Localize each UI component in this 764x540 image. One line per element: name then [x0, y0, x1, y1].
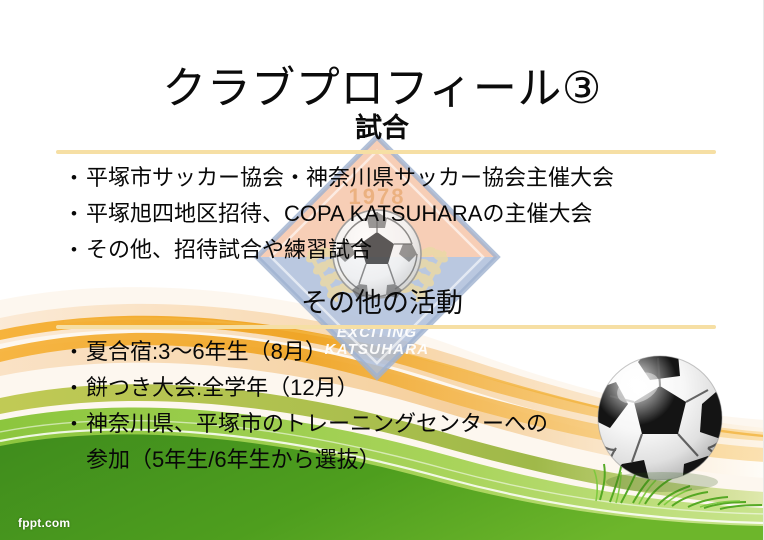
list-item-label: 平塚旭四地区招待、COPA KATSUHARAの主催大会: [86, 196, 614, 232]
list-item-label-line2: 参加（5年生/6年生から選抜）: [86, 442, 548, 478]
bullet-marker-icon: •: [62, 232, 86, 268]
list-item: • 平塚市サッカー協会・神奈川県サッカー協会主催大会: [62, 160, 614, 196]
slide-content: クラブプロフィール③ 試合 • 平塚市サッカー協会・神奈川県サッカー協会主催大会…: [0, 0, 763, 540]
section-divider-matches: [56, 150, 716, 154]
section-heading-other-activities: その他の活動: [0, 290, 764, 317]
list-item: • その他、招待試合や練習試合: [62, 232, 614, 268]
list-item: • 餅つき大会:全学年（12月）: [62, 370, 548, 406]
bullet-marker-icon: •: [62, 160, 86, 196]
list-item-label: 夏合宿:3～6年生（8月）: [86, 334, 548, 370]
bullet-marker-icon: •: [62, 370, 86, 406]
list-item-label: 平塚市サッカー協会・神奈川県サッカー協会主催大会: [86, 160, 614, 196]
list-item-label: 神奈川県、平塚市のトレーニングセンターへの 参加（5年生/6年生から選抜）: [86, 406, 548, 478]
list-item-label: 餅つき大会:全学年（12月）: [86, 370, 548, 406]
list-item-label-line1: 神奈川県、平塚市のトレーニングセンターへの: [86, 411, 548, 436]
bullet-marker-icon: •: [62, 334, 86, 370]
section-heading-matches: 試合: [0, 115, 764, 142]
bullet-list-other-activities: • 夏合宿:3～6年生（8月） • 餅つき大会:全学年（12月） • 神奈川県、…: [62, 334, 548, 478]
bullet-marker-icon: •: [62, 406, 86, 442]
list-item-label: その他、招待試合や練習試合: [86, 232, 614, 268]
page-title: クラブプロフィール③: [0, 67, 764, 111]
list-item: • 平塚旭四地区招待、COPA KATSUHARAの主催大会: [62, 196, 614, 232]
slide-canvas: 1978: [0, 0, 764, 540]
fppt-watermark: fppt.com: [18, 516, 70, 530]
section-divider-other-activities: [56, 325, 716, 329]
list-item: • 夏合宿:3～6年生（8月）: [62, 334, 548, 370]
bullet-list-matches: • 平塚市サッカー協会・神奈川県サッカー協会主催大会 • 平塚旭四地区招待、CO…: [62, 160, 614, 268]
bullet-marker-icon: •: [62, 196, 86, 232]
list-item: • 神奈川県、平塚市のトレーニングセンターへの 参加（5年生/6年生から選抜）: [62, 406, 548, 478]
